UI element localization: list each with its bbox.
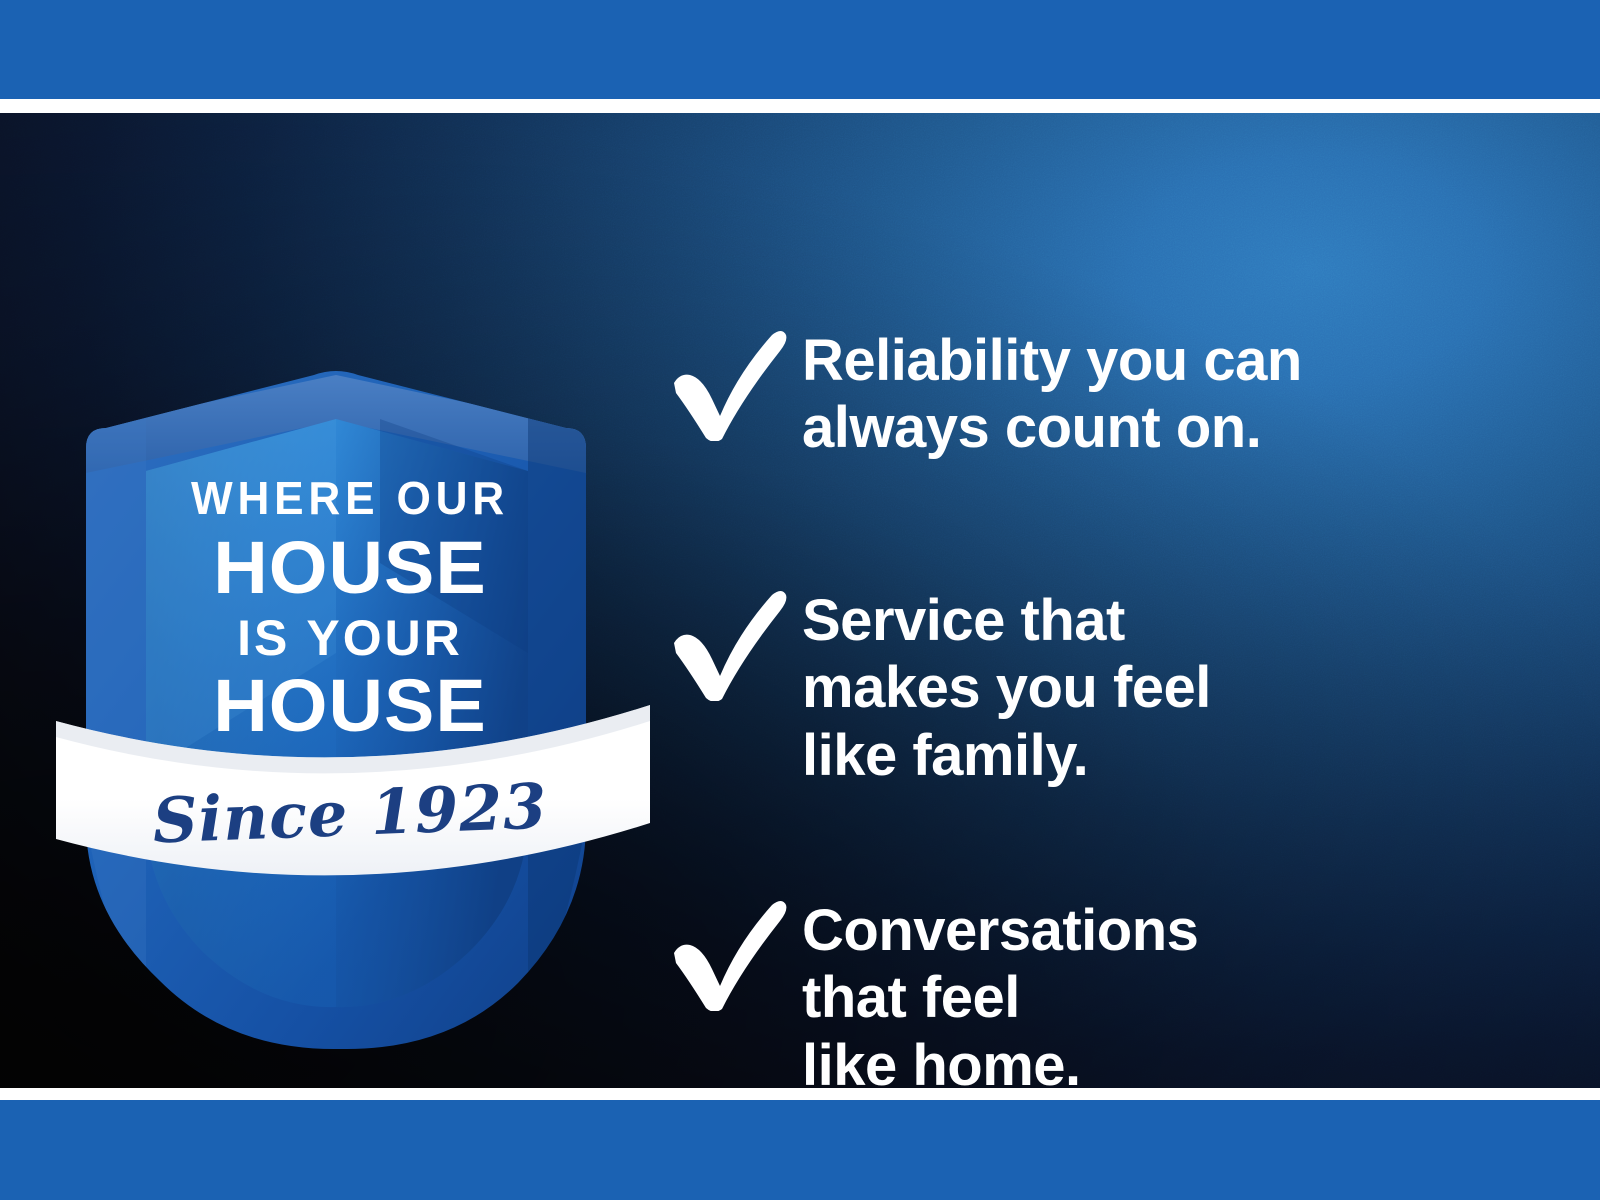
checkmark-icon bbox=[660, 321, 790, 441]
checkmark-icon bbox=[660, 581, 790, 701]
promo-graphic: WHERE OUR HOUSE IS YOUR HOUSE Since 1923… bbox=[0, 0, 1600, 1200]
list-item-text: Reliability you can always count on. bbox=[802, 321, 1302, 462]
company-logo: WHERE OUR HOUSE IS YOUR HOUSE Since 1923 bbox=[50, 353, 650, 1073]
logo-line-1: WHERE OUR bbox=[62, 475, 638, 521]
bottom-brand-bar bbox=[0, 1100, 1600, 1200]
list-item: Reliability you can always count on. bbox=[660, 321, 1540, 462]
list-item-text: Service that makes you feel like family. bbox=[802, 581, 1211, 789]
logo-line-2: HOUSE bbox=[44, 531, 656, 605]
list-item: Conversations that feel like home. bbox=[660, 891, 1540, 1088]
logo-line-3: IS YOUR bbox=[50, 613, 650, 663]
benefits-list: Reliability you can always count on. Ser… bbox=[660, 226, 1540, 1088]
list-item-text: Conversations that feel like home. bbox=[802, 891, 1198, 1088]
list-item: Service that makes you feel like family. bbox=[660, 581, 1540, 789]
content-panel: WHERE OUR HOUSE IS YOUR HOUSE Since 1923… bbox=[0, 113, 1600, 1088]
logo-line-4: HOUSE bbox=[44, 669, 656, 743]
top-brand-bar bbox=[0, 0, 1600, 99]
checkmark-icon bbox=[660, 891, 790, 1011]
